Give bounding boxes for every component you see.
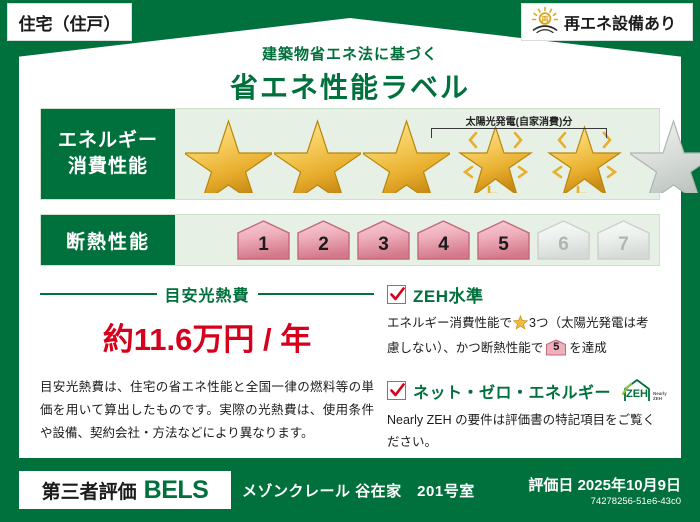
insulation-level-number: 6 bbox=[558, 235, 569, 261]
energy-performance-label-line2: 消費性能 bbox=[68, 154, 148, 180]
net-zero-energy-body: Nearly ZEH の要件は評価書の特記項目をご覧ください。 bbox=[387, 410, 659, 454]
sun-icon: 再 bbox=[530, 6, 560, 39]
building-name: メゾンクレール 谷在家 201号室 bbox=[242, 480, 475, 501]
insulation-level-number: 3 bbox=[378, 235, 389, 261]
title-subtitle: 建築物省エネ法に基づく bbox=[0, 43, 700, 64]
housing-type-badge: 住宅（住戸） bbox=[7, 3, 132, 41]
label-title: 建築物省エネ法に基づく 省エネ性能ラベル bbox=[0, 43, 700, 106]
heading-rule-left bbox=[40, 293, 157, 295]
solar-bracket-label: 太陽光発電(自家消費)分 bbox=[428, 113, 610, 128]
star-empty bbox=[630, 115, 700, 193]
utility-cost-note: 目安光熱費は、住宅の省エネ性能と全国一律の燃料等の単価を用いて算出したものです。… bbox=[40, 376, 374, 445]
housing-type-label: 住宅（住戸） bbox=[19, 10, 121, 35]
zeh-body-text-4: を達成 bbox=[569, 341, 607, 355]
energy-performance-label: 住宅（住戸） 再 bbox=[0, 0, 700, 522]
evaluation-date-label: 評価日 bbox=[528, 477, 573, 494]
title-main: 省エネ性能ラベル bbox=[0, 66, 700, 106]
evaluation-info: 評価日 2025年10月9日 74278256-51e6-43c0 bbox=[528, 474, 681, 507]
insulation-level-inactive: 6 bbox=[535, 219, 592, 261]
insulation-performance-key: 断熱性能 bbox=[41, 215, 175, 265]
zeh-standard-block: ZEH水準 エネルギー消費性能で3つ（太陽光発電は考慮しない）、かつ断熱性能で5… bbox=[387, 282, 681, 360]
svg-text:ZEH: ZEH bbox=[626, 388, 648, 400]
insulation-performance-value: 1 2 3 bbox=[175, 215, 659, 265]
zeh-standard-body: エネルギー消費性能で3つ（太陽光発電は考慮しない）、かつ断熱性能で5を達成 bbox=[387, 313, 659, 360]
insulation-level-inactive: 7 bbox=[595, 219, 652, 261]
energy-performance-label-line1: エネルギー bbox=[58, 128, 158, 154]
footer-band: 第三者評価 BELS メゾンクレール 谷在家 201号室 評価日 2025年10… bbox=[0, 458, 700, 522]
net-zero-energy-heading: ネット・ゼロ・エネルギー ZEH Nearly ZEH bbox=[387, 378, 681, 404]
house-icon-inline: 5 bbox=[545, 339, 567, 356]
zeh-standard-title: ZEH水準 bbox=[413, 282, 484, 307]
zeh-standard-heading: ZEH水準 bbox=[387, 282, 681, 307]
net-zero-energy-block: ネット・ゼロ・エネルギー ZEH Nearly ZEH Nearly ZEH の… bbox=[387, 378, 681, 454]
energy-performance-value: 太陽光発電(自家消費)分 bbox=[175, 109, 659, 199]
insulation-level-number: 4 bbox=[438, 235, 449, 261]
zeh-logo-icon: ZEH Nearly ZEH bbox=[622, 378, 676, 404]
insulation-level-active: 4 bbox=[415, 219, 472, 261]
bels-logo-jp: 第三者評価 bbox=[42, 477, 137, 504]
bels-logo-en: BELS bbox=[144, 476, 209, 505]
solar-bracket: 太陽光発電(自家消費)分 bbox=[428, 113, 610, 139]
star-icon-inline bbox=[513, 315, 528, 338]
zeh-column: ZEH水準 エネルギー消費性能で3つ（太陽光発電は考慮しない）、かつ断熱性能で5… bbox=[379, 275, 681, 458]
insulation-level-active: 3 bbox=[355, 219, 412, 261]
net-zero-energy-checkbox[interactable] bbox=[387, 381, 406, 400]
insulation-level-active: 1 bbox=[235, 219, 292, 261]
evaluation-date: 評価日 2025年10月9日 bbox=[528, 474, 681, 495]
energy-performance-key: エネルギー 消費性能 bbox=[41, 109, 175, 199]
insulation-scale: 1 2 3 bbox=[235, 219, 652, 261]
bels-logo: 第三者評価 BELS bbox=[19, 471, 231, 509]
evaluation-id: 74278256-51e6-43c0 bbox=[528, 496, 681, 507]
label-body: エネルギー 消費性能 太陽光発電(自家消費)分 bbox=[19, 99, 681, 458]
energy-performance-row: エネルギー 消費性能 太陽光発電(自家消費)分 bbox=[40, 108, 660, 200]
star-filled bbox=[274, 115, 361, 193]
insulation-level-number: 2 bbox=[318, 235, 329, 261]
net-zero-energy-title: ネット・ゼロ・エネルギー bbox=[413, 379, 611, 403]
lower-content: 目安光熱費 約11.6万円 / 年 目安光熱費は、住宅の省エネ性能と全国一律の燃… bbox=[19, 275, 681, 458]
insulation-level-number: 5 bbox=[498, 235, 509, 261]
renewable-energy-label: 再エネ設備あり bbox=[564, 10, 676, 34]
utility-cost-heading-text: 目安光熱費 bbox=[165, 282, 250, 306]
svg-text:再: 再 bbox=[541, 15, 549, 24]
house-icon-number: 5 bbox=[545, 340, 567, 355]
zeh-body-text-1: エネルギー消費性能で bbox=[387, 316, 512, 330]
zeh-body-text-2: 3つ（太陽光発電 bbox=[529, 316, 623, 330]
star-filled bbox=[185, 115, 272, 193]
header-band: 住宅（住戸） 再 bbox=[0, 0, 700, 108]
insulation-level-active: 5 bbox=[475, 219, 532, 261]
solar-bracket-line bbox=[431, 128, 607, 138]
utility-cost-heading: 目安光熱費 bbox=[40, 282, 374, 306]
insulation-level-number: 7 bbox=[618, 235, 629, 261]
insulation-level-number: 1 bbox=[258, 235, 269, 261]
utility-cost-column: 目安光熱費 約11.6万円 / 年 目安光熱費は、住宅の省エネ性能と全国一律の燃… bbox=[19, 275, 379, 458]
check-icon bbox=[389, 382, 406, 399]
insulation-level-active: 2 bbox=[295, 219, 352, 261]
renewable-energy-badge: 再 再エネ設備あり bbox=[521, 3, 693, 41]
check-icon bbox=[389, 286, 406, 303]
heading-rule-right bbox=[258, 293, 375, 295]
insulation-performance-row: 断熱性能 bbox=[40, 214, 660, 266]
insulation-performance-label: 断熱性能 bbox=[66, 227, 150, 254]
svg-text:ZEH: ZEH bbox=[653, 396, 662, 401]
zeh-standard-checkbox[interactable] bbox=[387, 285, 406, 304]
utility-cost-amount: 約11.6万円 / 年 bbox=[40, 314, 374, 359]
evaluation-date-value: 2025年10月9日 bbox=[578, 477, 681, 494]
